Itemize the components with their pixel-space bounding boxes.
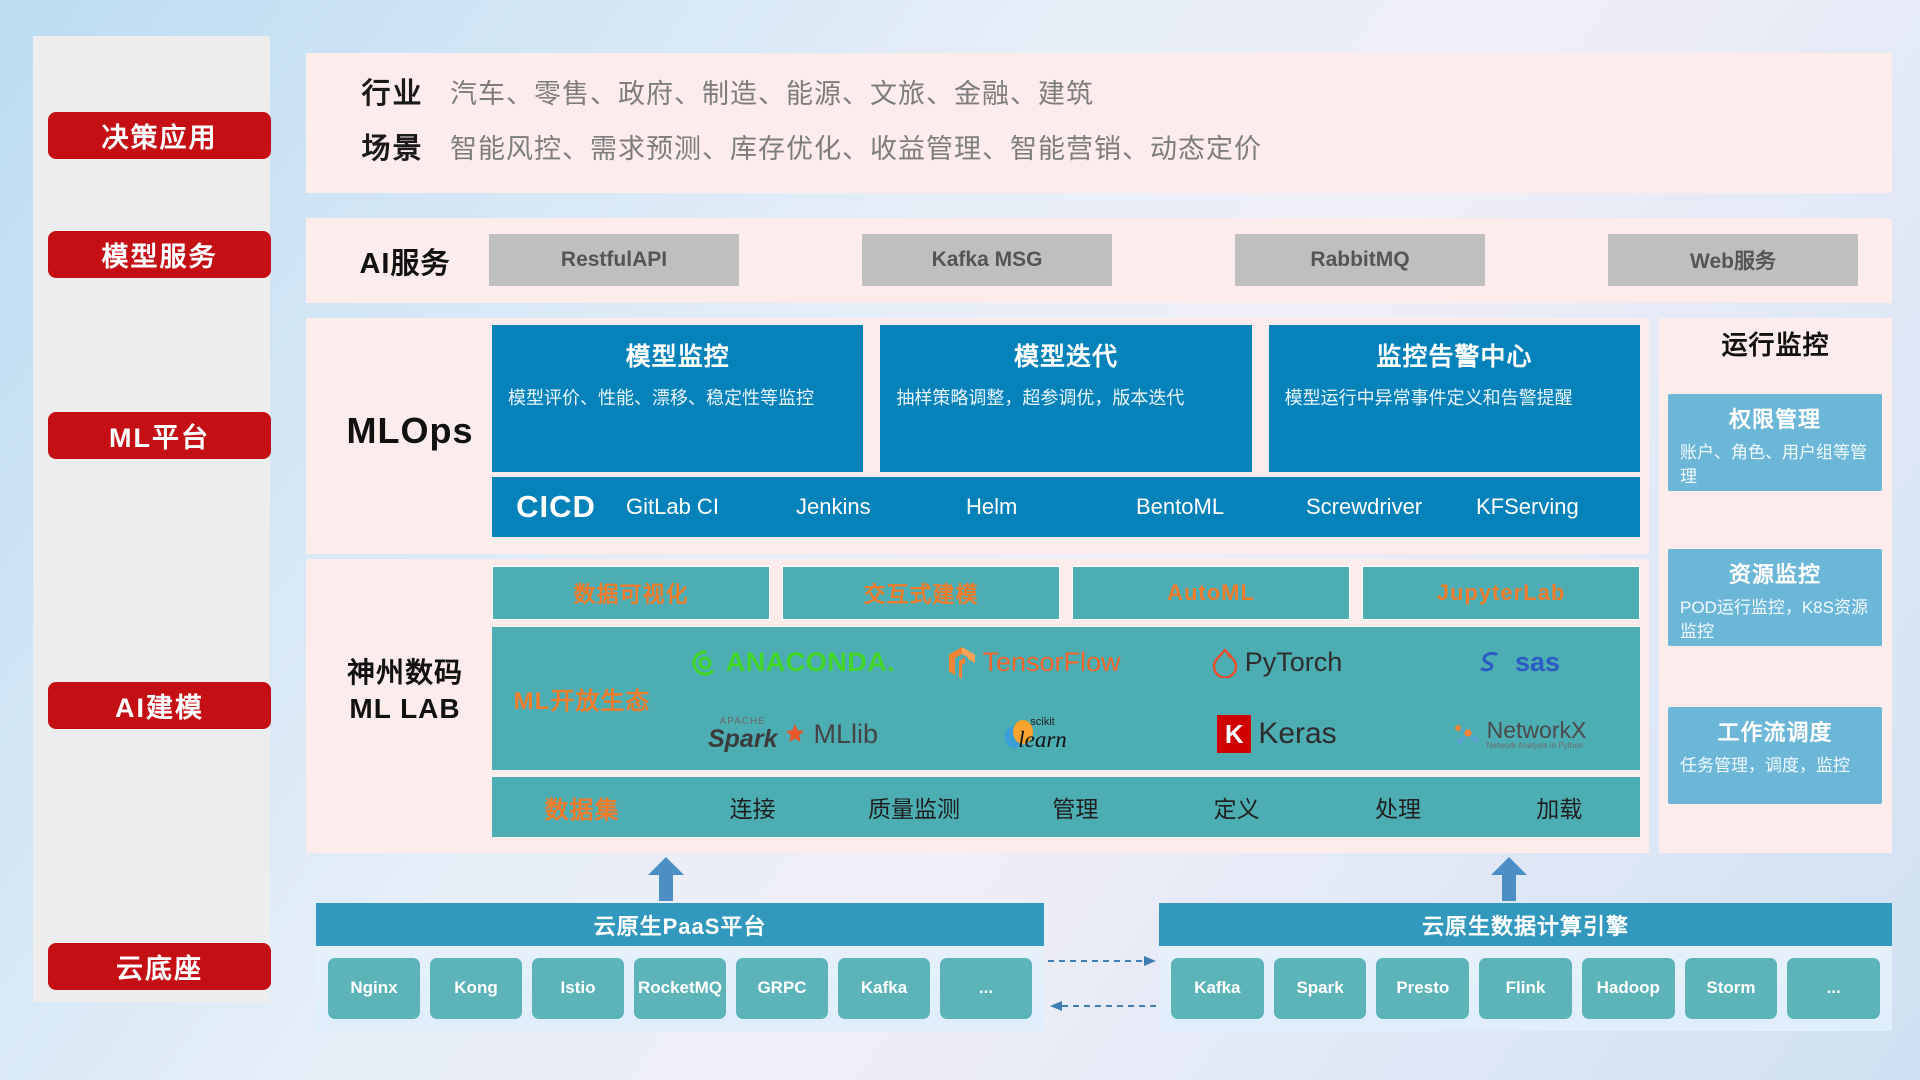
ml-ecosystem-label: ML开放生态 — [492, 681, 672, 716]
chip-more-paas[interactable]: ... — [940, 958, 1032, 1019]
chip-kong[interactable]: Kong — [430, 958, 522, 1019]
sas-logo: sas — [1478, 647, 1560, 678]
ai-service-button-restfulapi[interactable]: RestfulAPI — [489, 234, 739, 286]
monitor-card-permission[interactable]: 权限管理 账户、角色、用户组等管理 — [1668, 394, 1882, 491]
scene-list: 智能风控、需求预测、库存优化、收益管理、智能营销、动态定价 — [450, 127, 1262, 166]
cloud-engine-block: 云原生数据计算引擎 Kafka Spark Presto Flink Hadoo… — [1159, 903, 1892, 1031]
ai-service-button-kafka-msg[interactable]: Kafka MSG — [862, 234, 1112, 286]
tensorflow-logo-text: TensorFlow — [982, 647, 1120, 678]
mlops-cards: 模型监控 模型评价、性能、漂移、稳定性等监控 模型迭代 抽样策略调整，超参调优，… — [492, 325, 1640, 472]
card-title: 工作流调度 — [1680, 715, 1870, 747]
keras-logo: K Keras — [1217, 715, 1336, 753]
cicd-item-jenkins[interactable]: Jenkins — [790, 495, 960, 518]
scikit-learn-logo: scikit learn — [1003, 717, 1067, 751]
mllib-logo-text: MLlib — [813, 719, 878, 750]
card-desc: 模型运行中异常事件定义和告警提醒 — [1285, 385, 1624, 411]
ml-lab-label-line1: 神州数码 — [315, 655, 495, 691]
rail-tag-decision-apps[interactable]: 决策应用 — [48, 112, 271, 159]
tensorflow-logo: TensorFlow — [949, 647, 1120, 679]
cloud-paas-block: 云原生PaaS平台 Nginx Kong Istio RocketMQ GRPC… — [316, 903, 1044, 1031]
mlops-label: MLOps — [330, 410, 490, 452]
keras-logo-text: Keras — [1258, 717, 1336, 751]
sas-logo-text: sas — [1515, 647, 1560, 678]
ml-lab-tool-automl[interactable]: AutoML — [1072, 566, 1350, 620]
anaconda-logo: ANACONDA. — [691, 647, 896, 678]
layer-rail — [33, 36, 270, 1002]
dataset-item-manage[interactable]: 管理 — [995, 790, 1156, 824]
pytorch-logo: PyTorch — [1212, 647, 1343, 678]
card-title: 资源监控 — [1680, 557, 1870, 589]
card-desc: 模型评价、性能、漂移、稳定性等监控 — [508, 385, 847, 411]
card-desc: 抽样策略调整，超参调优，版本迭代 — [896, 385, 1235, 411]
chip-flink[interactable]: Flink — [1479, 958, 1572, 1019]
dataset-item-process[interactable]: 处理 — [1317, 790, 1478, 824]
dataset-item-quality-monitoring[interactable]: 质量监测 — [833, 790, 994, 824]
ml-lab-label: 神州数码 ML LAB — [315, 655, 495, 727]
anaconda-mark-icon — [691, 649, 719, 677]
rail-tag-cloud-base[interactable]: 云底座 — [48, 943, 271, 990]
card-title: 权限管理 — [1680, 402, 1870, 434]
scene-row: 场景 智能风控、需求预测、库存优化、收益管理、智能营销、动态定价 — [335, 125, 1262, 167]
spark-star-icon — [784, 723, 806, 745]
arrow-dashed-left-icon — [1048, 1000, 1158, 1002]
card-desc: 账户、角色、用户组等管理 — [1680, 441, 1870, 489]
chip-spark[interactable]: Spark — [1274, 958, 1367, 1019]
card-desc: POD运行监控，K8S资源监控 — [1680, 596, 1870, 644]
ai-service-buttons: RestfulAPI Kafka MSG RabbitMQ Web服务 — [489, 234, 1874, 286]
chip-presto[interactable]: Presto — [1376, 958, 1469, 1019]
cicd-label: CICD — [492, 489, 620, 525]
cicd-item-helm[interactable]: Helm — [960, 495, 1130, 518]
ml-lab-tool-jupyterlab[interactable]: JupyterLab — [1362, 566, 1640, 620]
dataset-item-connect[interactable]: 连接 — [672, 790, 833, 824]
pytorch-mark-icon — [1212, 648, 1238, 678]
cicd-item-gitlab-ci[interactable]: GitLab CI — [620, 495, 790, 518]
cloud-paas-title: 云原生PaaS平台 — [316, 903, 1044, 946]
rail-tag-ai-modeling[interactable]: AI建模 — [48, 682, 271, 729]
networkx-sub-text: Network Analysis in Python — [1487, 742, 1587, 750]
chip-kafka-engine[interactable]: Kafka — [1171, 958, 1264, 1019]
cicd-item-screwdriver[interactable]: Screwdriver — [1300, 495, 1470, 518]
cicd-item-kfserving[interactable]: KFServing — [1470, 495, 1640, 518]
rail-tag-model-service[interactable]: 模型服务 — [48, 231, 271, 278]
card-title: 模型迭代 — [896, 337, 1235, 373]
rail-tag-ml-platform[interactable]: ML平台 — [48, 412, 271, 459]
mlops-card-model-iteration[interactable]: 模型迭代 抽样策略调整，超参调优，版本迭代 — [880, 325, 1251, 472]
chip-kafka[interactable]: Kafka — [838, 958, 930, 1019]
dataset-item-define[interactable]: 定义 — [1156, 790, 1317, 824]
cicd-row: CICD GitLab CI Jenkins Helm BentoML Scre… — [492, 477, 1640, 537]
arrow-up-engine-icon — [1489, 857, 1529, 901]
card-title: 监控告警中心 — [1285, 337, 1624, 373]
keras-mark-icon: K — [1217, 715, 1251, 753]
sas-mark-icon — [1478, 650, 1508, 676]
industry-list: 汽车、零售、政府、制造、能源、文旅、金融、建筑 — [450, 72, 1094, 111]
ml-ecosystem-logos: ANACONDA. TensorFlow PyTorch sas APACHE … — [672, 627, 1640, 770]
arrow-up-paas-icon — [646, 857, 686, 901]
ai-service-button-rabbitmq[interactable]: RabbitMQ — [1235, 234, 1485, 286]
cicd-item-bentoml[interactable]: BentoML — [1130, 495, 1300, 518]
runtime-monitor-title: 运行监控 — [1659, 325, 1892, 362]
chip-grpc[interactable]: GRPC — [736, 958, 828, 1019]
anaconda-logo-text: ANACONDA. — [726, 647, 896, 678]
arrow-dashed-right-icon — [1048, 955, 1158, 957]
card-title: 模型监控 — [508, 337, 847, 373]
learn-word-text: learn — [1018, 728, 1067, 751]
spark-word-text: Spark — [708, 727, 777, 752]
ml-lab-label-line2: ML LAB — [315, 691, 495, 727]
chip-rocketmq[interactable]: RocketMQ — [634, 958, 726, 1019]
industry-label: 行业 — [335, 70, 450, 112]
monitor-card-workflow[interactable]: 工作流调度 任务管理，调度，监控 — [1668, 707, 1882, 804]
networkx-logo: NetworkX Network Analysis in Python — [1452, 719, 1587, 750]
networkx-graph-icon — [1452, 720, 1480, 748]
chip-nginx[interactable]: Nginx — [328, 958, 420, 1019]
chip-hadoop[interactable]: Hadoop — [1582, 958, 1675, 1019]
scene-label: 场景 — [335, 125, 450, 167]
cloud-paas-chips: Nginx Kong Istio RocketMQ GRPC Kafka ... — [316, 946, 1044, 1031]
mlops-card-model-monitoring[interactable]: 模型监控 模型评价、性能、漂移、稳定性等监控 — [492, 325, 863, 472]
mlops-card-alert-center[interactable]: 监控告警中心 模型运行中异常事件定义和告警提醒 — [1269, 325, 1640, 472]
industry-row: 行业 汽车、零售、政府、制造、能源、文旅、金融、建筑 — [335, 70, 1094, 112]
ai-service-label: AI服务 — [340, 240, 470, 282]
ml-lab-tools: 数据可视化 交互式建模 AutoML JupyterLab — [492, 566, 1640, 620]
chip-storm[interactable]: Storm — [1685, 958, 1778, 1019]
ml-ecosystem-row: ML开放生态 ANACONDA. TensorFlow PyTorch sas — [492, 627, 1640, 770]
dataset-label: 数据集 — [492, 790, 672, 825]
monitor-card-resource[interactable]: 资源监控 POD运行监控，K8S资源监控 — [1668, 549, 1882, 646]
chip-more-engine[interactable]: ... — [1787, 958, 1880, 1019]
ml-lab-tool-interactive-modeling[interactable]: 交互式建模 — [782, 566, 1060, 620]
dataset-row: 数据集 连接 质量监测 管理 定义 处理 加载 — [492, 777, 1640, 837]
cloud-engine-chips: Kafka Spark Presto Flink Hadoop Storm ..… — [1159, 946, 1892, 1031]
cloud-engine-title: 云原生数据计算引擎 — [1159, 903, 1892, 946]
tensorflow-mark-icon — [949, 647, 975, 679]
ml-lab-tool-data-visualization[interactable]: 数据可视化 — [492, 566, 770, 620]
card-desc: 任务管理，调度，监控 — [1680, 754, 1870, 778]
chip-istio[interactable]: Istio — [532, 958, 624, 1019]
spark-mllib-logo: APACHE Spark MLlib — [708, 717, 878, 752]
networkx-logo-text: NetworkX — [1487, 719, 1587, 742]
ai-service-button-web[interactable]: Web服务 — [1608, 234, 1858, 286]
pytorch-logo-text: PyTorch — [1245, 647, 1343, 678]
dataset-item-load[interactable]: 加载 — [1479, 790, 1640, 824]
architecture-diagram: 决策应用 模型服务 ML平台 AI建模 云底座 行业 汽车、零售、政府、制造、能… — [0, 0, 1920, 1080]
